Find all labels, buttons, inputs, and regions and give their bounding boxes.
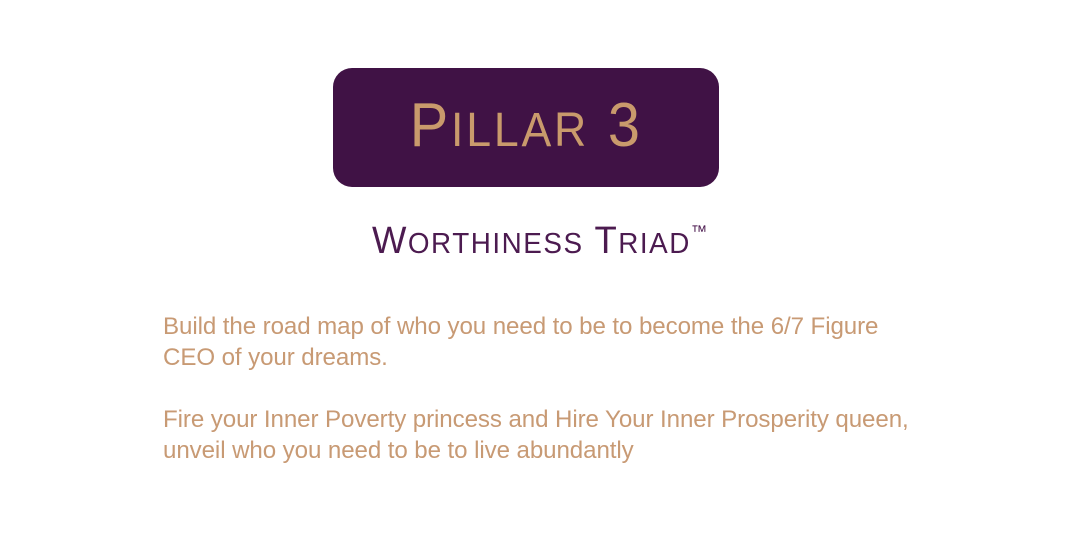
subtitle-space	[584, 220, 595, 262]
trademark-symbol: ™	[691, 222, 707, 241]
body-paragraph-2: Fire your Inner Poverty princess and Hir…	[163, 404, 912, 466]
subtitle-heading: WORTHINESS TRIAD™	[372, 222, 707, 260]
body-copy-block: Build the road map of who you need to be…	[163, 311, 923, 466]
subtitle-container: WORTHINESS TRIAD™	[0, 222, 1080, 260]
pillar-badge-smallcaps: ILLAR	[451, 104, 589, 157]
pillar-badge-lead-letter: P	[410, 91, 451, 160]
slide-canvas: PILLAR 3 WORTHINESS TRIAD™ Build the roa…	[0, 0, 1080, 540]
pillar-badge-label: PILLAR 3	[410, 95, 643, 161]
subtitle-word-one-rest: ORTHINESS	[408, 228, 584, 260]
pillar-badge-numeral: 3	[608, 91, 643, 160]
pillar-badge: PILLAR 3	[333, 68, 719, 187]
body-paragraph-1: Build the road map of who you need to be…	[163, 311, 912, 373]
subtitle-word-two-rest: RIAD	[619, 228, 692, 260]
subtitle-word-two-lead: T	[595, 220, 619, 262]
subtitle-word-one-lead: W	[372, 220, 408, 262]
